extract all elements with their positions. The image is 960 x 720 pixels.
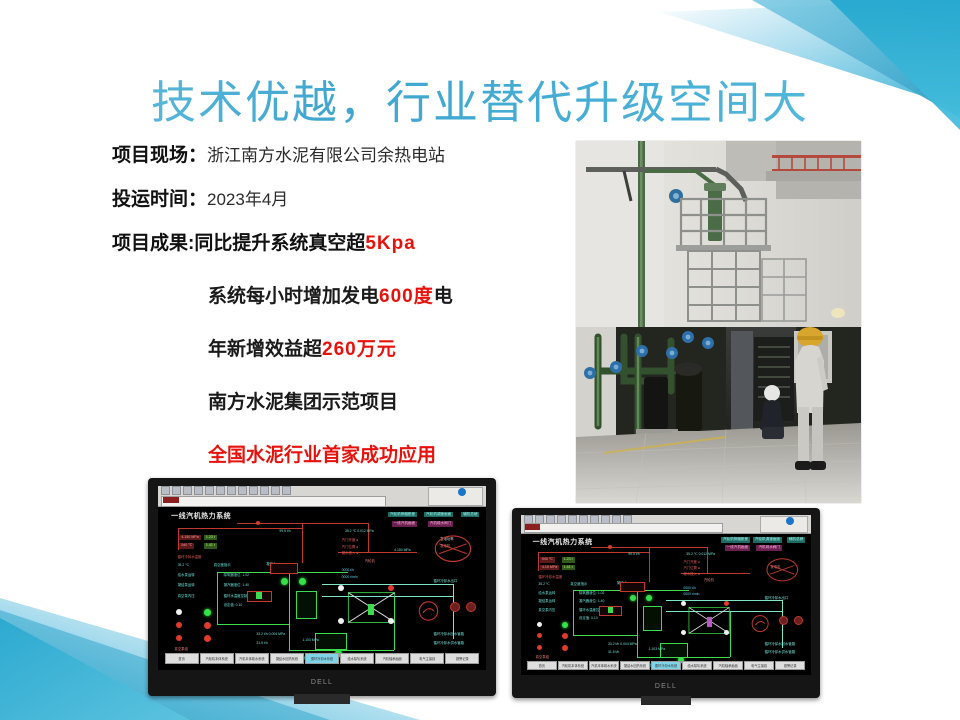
result-text-power: 系统每小时增加发电 — [208, 286, 379, 307]
scada-tabbar-right[interactable]: 首页 汽轮机本体系统 汽机本体疏水系统 凝结水回热系统 循环冷却水系统 给水除氧… — [527, 661, 805, 671]
valve-symbol — [176, 635, 182, 641]
valve-symbol — [537, 622, 542, 627]
scada-param-box: 1.41 t — [204, 543, 217, 549]
toolbar-icon[interactable] — [260, 486, 269, 495]
status-lamp-green — [630, 595, 636, 601]
monitor-screen-right[interactable]: 一线汽机热力系统 汽轮机伸缩胀差 汽轮机调速画面 辅机总貌 一线汽机画面 汽机疏… — [521, 515, 811, 675]
status-lamp-red — [204, 635, 211, 642]
valve-symbol — [176, 622, 182, 628]
valve-symbol — [681, 601, 686, 606]
turbine-label: 汽轮机 — [365, 560, 375, 564]
toolbar-icon[interactable] — [161, 486, 170, 495]
status-lamp-green — [299, 578, 306, 585]
scada-tab[interactable]: 电气主接线 — [744, 661, 774, 671]
toolbar-icon[interactable] — [282, 486, 291, 495]
status-lamp-red — [562, 633, 568, 639]
scada-tab[interactable]: 给水除氧系统 — [682, 661, 712, 671]
scada-tabbar-left[interactable]: 首页 汽轮机本体系统 汽机本体疏水系统 凝结水回热系统 循环冷却水系统 给水除氧… — [165, 653, 480, 664]
circulation-pump-icon — [417, 600, 440, 622]
plant-photo-illustration — [576, 141, 861, 503]
toolbar-marker-left — [163, 497, 179, 504]
toolbar-icon[interactable] — [183, 486, 192, 495]
steam-pipe — [368, 523, 369, 552]
page-title: 技术优越，行业替代升级空间大 — [0, 66, 960, 131]
cooler-unit — [794, 616, 803, 625]
result-text-demo: 南方水泥集团示范项目 — [208, 392, 398, 413]
level-gauge — [707, 617, 713, 627]
scada-tab[interactable]: 报警记录 — [445, 653, 479, 664]
toolbar-status-panel-right — [760, 516, 808, 533]
scada-badge-pink-2[interactable]: 汽机疏水阀门 — [756, 545, 782, 551]
toolbar-icon[interactable] — [579, 515, 588, 524]
valve-symbol — [388, 585, 394, 591]
result-row-demo: 南方水泥集团示范项目 — [208, 387, 582, 414]
water-pipe — [217, 624, 289, 625]
scada-param-box: 540 ℃ — [540, 557, 555, 563]
water-pipe — [322, 584, 453, 585]
fact-label-site: 项目现场： — [112, 145, 207, 166]
toolbar-marker-right — [525, 524, 540, 530]
content-text-block: 项目现场：浙江南方水泥有限公司余热电站 投运时间：2023年4月 项目成果:同比… — [112, 140, 582, 467]
toolbar-address-bar-left[interactable] — [161, 496, 386, 507]
scada-diagram-left: 一线汽机热力系统 汽轮机伸缩胀差 汽轮机调速画面 辅机总貌 一线汽机画面 汽机疏… — [158, 486, 486, 670]
scada-param-box: 4.15 MPa — [540, 565, 559, 571]
condenser-box — [296, 591, 318, 619]
fact-label-date: 投运时间： — [112, 189, 207, 210]
scada-tab-active[interactable]: 循环冷却水系统 — [305, 653, 339, 664]
generator-label: 发电机 — [440, 545, 450, 549]
toolbar-icon[interactable] — [227, 486, 236, 495]
result-highlight-power: 600度 — [379, 286, 434, 307]
circulation-pump-icon — [750, 614, 770, 633]
cooler-unit — [779, 616, 788, 625]
toolbar-icon[interactable] — [557, 515, 566, 524]
steam-pipe — [649, 547, 650, 582]
valve-indicator — [256, 521, 260, 525]
scada-badge-cyan-2[interactable]: 汽轮机调速画面 — [424, 512, 453, 518]
status-lamp-green — [646, 595, 652, 601]
scada-tab[interactable]: 汽机轴承画面 — [375, 653, 409, 664]
scada-badge-cyan-3[interactable]: 辅机总貌 — [461, 512, 479, 518]
turbine-label: 汽轮机 — [704, 579, 714, 583]
steam-pipe — [302, 523, 303, 563]
scada-tab[interactable]: 首页 — [165, 653, 199, 664]
generator-icon — [430, 534, 476, 563]
level-gauge — [256, 592, 261, 599]
toolbar-icon[interactable] — [216, 486, 225, 495]
deaerator-box — [620, 582, 645, 592]
scada-tab[interactable]: 汽轮机本体系统 — [200, 653, 234, 664]
valve-indicator — [608, 545, 612, 549]
toolbar-icon[interactable] — [524, 515, 533, 524]
scada-title-left: 一线汽机热力系统 — [171, 511, 231, 521]
condenser-box — [643, 606, 662, 630]
result-row-first: 全国水泥行业首家成功应用 — [208, 440, 582, 467]
result-text-first: 全国水泥行业首家成功应用 — [208, 445, 436, 466]
cooler-unit — [450, 602, 460, 612]
scada-param-box: 1.23 t — [562, 557, 575, 563]
scada-tab[interactable]: 首页 — [527, 661, 557, 671]
scada-monitor-left: 一线汽机热力系统 汽轮机伸缩胀差 汽轮机调速画面 辅机总貌 一线汽机画面 汽机疏… — [148, 478, 496, 696]
pump-box — [315, 633, 347, 650]
scada-tab[interactable]: 凝结水回热系统 — [270, 653, 304, 664]
scada-tab[interactable]: 汽机本体疏水系统 — [589, 661, 619, 671]
scada-tab-active[interactable]: 循环冷却水系统 — [651, 661, 681, 671]
water-pipe — [637, 590, 638, 657]
toolbar-icon[interactable] — [172, 486, 181, 495]
water-pipe — [573, 635, 637, 636]
generator-icon — [762, 557, 803, 583]
scada-param-box: 1.41 t — [562, 565, 575, 571]
toolbar-icon[interactable] — [249, 486, 258, 495]
toolbar-icon[interactable] — [590, 515, 599, 524]
status-lamp-red — [204, 622, 211, 629]
scada-title-right: 一线汽机热力系统 — [533, 537, 593, 547]
deaerator-box — [270, 563, 298, 574]
fact-label-result: 项目成果: — [112, 233, 194, 254]
toolbar-icon[interactable] — [238, 486, 247, 495]
steam-pipe — [707, 547, 708, 573]
scada-tab[interactable]: 给水除氧系统 — [340, 653, 374, 664]
generator-label: 发电机 — [770, 566, 780, 570]
status-lamp-green — [562, 622, 568, 628]
fact-row-result: 项目成果:同比提升系统真空超5Kpa — [112, 228, 582, 255]
monitor-brand-left: DELL — [148, 679, 496, 686]
water-pipe — [573, 590, 574, 635]
scada-param-box: 1.23 t — [204, 535, 217, 541]
scada-param-box: 4.150 MPa — [179, 535, 200, 541]
toolbar-icon[interactable] — [546, 515, 555, 524]
result-tail-power: 电 — [434, 286, 453, 307]
monitor-stand-left — [294, 694, 350, 704]
result-text-benefit: 年新增效益超 — [208, 339, 322, 360]
water-pipe — [217, 572, 218, 624]
scada-badge-cyan-1[interactable]: 汽轮机伸缩胀差 — [388, 512, 417, 518]
fact-value-date: 2023年4月 — [207, 190, 288, 209]
scada-diagram-right: 一线汽机热力系统 汽轮机伸缩胀差 汽轮机调速画面 辅机总貌 一线汽机画面 汽机疏… — [521, 515, 811, 675]
valve-symbol — [537, 633, 542, 638]
cooler-unit — [466, 602, 476, 612]
toolbar-icon[interactable] — [568, 515, 577, 524]
status-lamp-green — [281, 578, 288, 585]
toolbar-icon[interactable] — [271, 486, 280, 495]
scada-toolbar-left[interactable] — [158, 486, 486, 507]
scada-param-box: 540 ℃ — [179, 543, 194, 549]
plant-site-photo — [576, 141, 861, 503]
scada-badge-cyan-2[interactable]: 汽轮机调速画面 — [753, 537, 782, 543]
scada-badge-cyan-1[interactable]: 汽轮机伸缩胀差 — [721, 537, 750, 543]
scada-tab[interactable]: 汽机本体疏水系统 — [235, 653, 269, 664]
monitor-stand-right — [641, 696, 690, 705]
result-highlight-benefit: 260万元 — [322, 339, 397, 360]
scada-badge-pink-2[interactable]: 汽机疏水阀门 — [428, 521, 454, 527]
fact-value-site: 浙江南方水泥有限公司余热电站 — [207, 146, 445, 165]
level-gauge — [608, 607, 613, 613]
toolbar-status-panel-left — [428, 487, 482, 506]
fact-row-site: 项目现场：浙江南方水泥有限公司余热电站 — [112, 140, 582, 167]
monitor-brand-right: DELL — [512, 683, 820, 690]
scada-tab[interactable]: 报警记录 — [775, 661, 805, 671]
status-lamp-green — [204, 609, 211, 616]
valve-symbol — [681, 630, 686, 635]
toolbar-icon[interactable] — [623, 515, 632, 524]
scada-tab[interactable]: 汽轮机本体系统 — [558, 661, 588, 671]
scada-badge-pink-1[interactable]: 一线汽机画面 — [392, 521, 418, 527]
scada-tab[interactable]: 凝结水回热系统 — [620, 661, 650, 671]
slide-canvas: 技术优越，行业替代升级空间大 项目现场：浙江南方水泥有限公司余热电站 投运时间：… — [0, 0, 960, 720]
valve-symbol — [176, 609, 182, 615]
toolbar-icon-row-left[interactable] — [161, 487, 397, 494]
toolbar-icon[interactable] — [194, 486, 203, 495]
result-row-power: 系统每小时增加发电600度电 — [208, 281, 582, 308]
fact-value-result: 同比提升系统真空超 — [194, 233, 365, 254]
help-icon[interactable] — [786, 517, 794, 525]
fact-highlight-result: 5Kpa — [365, 233, 415, 254]
toolbar-address-bar-right[interactable] — [524, 523, 723, 533]
toolbar-icon[interactable] — [205, 486, 214, 495]
scada-badge-cyan-3[interactable]: 辅机总貌 — [787, 537, 805, 543]
level-gauge — [368, 604, 375, 615]
fact-row-date: 投运时间：2023年4月 — [112, 184, 582, 211]
scada-monitor-right: 一线汽机热力系统 汽轮机伸缩胀差 汽轮机调速画面 辅机总貌 一线汽机画面 汽机疏… — [512, 508, 820, 698]
scada-badge-pink-1[interactable]: 一线汽机画面 — [725, 545, 751, 551]
result-row-benefit: 年新增效益超260万元 — [208, 334, 582, 361]
toolbar-icon[interactable] — [601, 515, 610, 524]
toolbar-icon-row-right[interactable] — [524, 516, 733, 522]
water-pipe — [289, 572, 290, 649]
toolbar-icon[interactable] — [612, 515, 621, 524]
valve-symbol — [537, 645, 542, 650]
scada-tab[interactable]: 汽机轴承画面 — [713, 661, 743, 671]
scada-toolbar-right[interactable] — [521, 515, 811, 534]
monitor-screen-left[interactable]: 一线汽机热力系统 汽轮机伸缩胀差 汽轮机调速画面 辅机总貌 一线汽机画面 汽机疏… — [158, 486, 486, 670]
scada-tab[interactable]: 电气主接线 — [410, 653, 444, 664]
status-lamp-red — [562, 645, 568, 651]
toolbar-icon[interactable] — [535, 515, 544, 524]
